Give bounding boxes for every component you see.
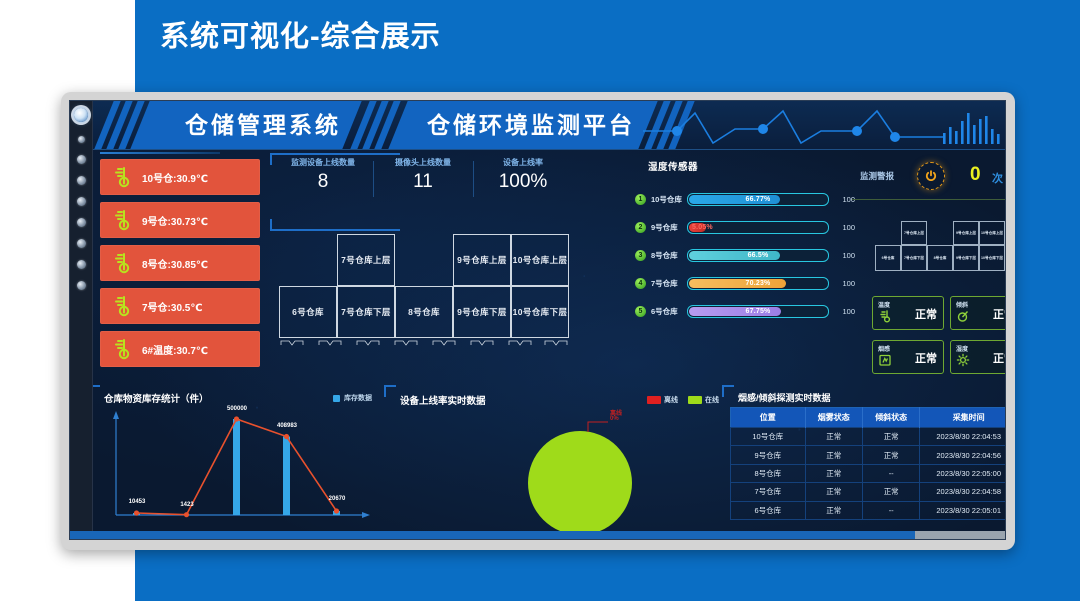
legend-swatch (333, 395, 340, 402)
cell-location: 8号仓库 (731, 464, 806, 482)
alarm-divider (852, 199, 1006, 200)
thermometer-icon (878, 309, 892, 323)
humidity-row[interactable]: 2 9号仓库 5.05% 100 (635, 213, 855, 241)
temperature-card-label: 7号仓:30.5℃ (142, 299, 260, 314)
warehouse-cell-8[interactable]: 8号仓库 (395, 286, 453, 338)
alarm-count: 0 (970, 164, 981, 186)
cell-tilt: 正常 (863, 446, 920, 464)
humidity-max: 100 (829, 307, 855, 316)
cell-tilt: -- (863, 464, 920, 482)
camera-icon-2[interactable] (77, 176, 86, 185)
humidity-index: 1 (635, 194, 646, 205)
mini-cell-8[interactable]: 8号仓库 (927, 245, 953, 271)
legend-item-offline: 离线 (647, 395, 678, 405)
temperature-card[interactable]: 8号仓:30.85℃ (100, 245, 260, 281)
legend-label-offline: 离线 (664, 395, 678, 405)
mini-cell-7-upper[interactable]: 7号仓库上层 (901, 221, 927, 245)
power-icon[interactable] (917, 162, 945, 190)
status-value: 正常 (915, 306, 937, 322)
humidity-row[interactable]: 1 10号仓库 66.77% 100 (635, 185, 855, 213)
pie-chart-title: 设备上线率实时数据 (400, 393, 486, 407)
inventory-data-label: 408983 (268, 423, 306, 429)
app-sidebar[interactable] (70, 101, 93, 539)
cell-time: 2023/8/30 22:04:56 (920, 446, 1006, 464)
legend-label-online: 在线 (705, 395, 719, 405)
dashboard-icon[interactable] (78, 136, 85, 143)
status-box-smoke[interactable]: 烟感 正常 (872, 340, 944, 374)
inventory-data-label: 20670 (318, 496, 356, 502)
cell-location: 7号仓库 (731, 483, 806, 501)
header-title-left: 仓储管理系统 (168, 101, 358, 149)
humidity-index: 5 (635, 306, 646, 317)
mini-cell-9-lower[interactable]: 9号仓库下层 (953, 245, 979, 271)
camera-icon-7[interactable] (77, 281, 86, 290)
humidity-percent: 66.5% (688, 250, 828, 261)
cell-smoke: 正常 (805, 483, 862, 501)
humidity-name: 9号仓库 (651, 222, 687, 233)
humidity-progress-track: 67.75% (687, 305, 829, 318)
status-box-humidity[interactable]: 湿度 正常 (950, 340, 1006, 374)
app-header: 仓储管理系统 仓储环境监测平台 (92, 101, 1005, 150)
kpi-label: 监测设备上线数量 (273, 157, 373, 168)
humidity-index: 3 (635, 250, 646, 261)
cell-tilt: 正常 (863, 483, 920, 501)
thermometer-icon (100, 251, 142, 275)
slide-title: 系统可视化-综合展示 (160, 14, 660, 60)
humidity-name: 10号仓库 (651, 194, 687, 205)
warehouse-cell-7-lower[interactable]: 7号仓库下层 (337, 286, 395, 338)
humidity-percent: 70.23% (688, 278, 828, 289)
status-value: 正常 (993, 350, 1006, 366)
humidity-index: 4 (635, 278, 646, 289)
callout-leader-line (586, 419, 610, 433)
dashboard-screen: 仓储管理系统 仓储环境监测平台 (69, 100, 1006, 540)
kpi-label: 设备上线率 (473, 157, 573, 168)
mini-cell-10-lower[interactable]: 10号仓库下层 (979, 245, 1005, 271)
cell-time: 2023/8/30 22:04:53 (920, 428, 1006, 446)
status-box-temperature[interactable]: 温度 正常 (872, 296, 944, 330)
legend-swatch-online (688, 396, 702, 404)
kpi-online-rate: 设备上线率 100% (473, 157, 573, 193)
humidity-row[interactable]: 5 6号仓库 67.75% 100 (635, 297, 855, 325)
humidity-max: 100 (829, 279, 855, 288)
column-header-tilt: 倾斜状态 (863, 408, 920, 428)
map-corner-decoration (270, 219, 400, 231)
cell-smoke: 正常 (805, 464, 862, 482)
taskbar-tray[interactable] (915, 531, 1005, 539)
temperature-card[interactable]: 9号仓:30.73℃ (100, 202, 260, 238)
camera-icon-6[interactable] (77, 260, 86, 269)
mini-cell-7-lower[interactable]: 7号仓库下层 (901, 245, 927, 271)
status-label: 倾斜 (956, 300, 968, 309)
thermometer-icon (100, 208, 142, 232)
cell-location: 6号仓库 (731, 501, 806, 519)
table-header-row: 位置 烟雾状态 倾斜状态 采集时间 (731, 408, 1007, 428)
humidity-index: 2 (635, 222, 646, 233)
thermometer-icon (100, 337, 142, 361)
humidity-percent: 5.05% (688, 222, 828, 233)
table-row[interactable]: 9号仓库 正常 正常 2023/8/30 22:04:56 (731, 446, 1007, 464)
smoke-icon (878, 353, 892, 367)
alarm-section: 监测警报 0 次 (860, 159, 1006, 193)
kpi-row: 监测设备上线数量 8 摄像头上线数量 11 设备上线率 100% (273, 157, 573, 203)
humidity-progress-track: 5.05% (687, 221, 829, 234)
cell-smoke: 正常 (805, 428, 862, 446)
legend-item-online: 在线 (688, 395, 719, 405)
camera-icon-1[interactable] (77, 155, 86, 164)
cell-location: 10号仓库 (731, 428, 806, 446)
table-row[interactable]: 8号仓库 正常 -- 2023/8/30 22:05:00 (731, 464, 1007, 482)
column-header-location: 位置 (731, 408, 806, 428)
smoke-tilt-table-panel: 烟感/倾斜探测实时数据 位置 烟雾状态 倾斜状态 采集时间 10号仓库 正常 正… (730, 389, 1006, 540)
warehouse-cell-10-lower[interactable]: 10号仓库下层 (511, 286, 569, 338)
callout-value: 0% (610, 416, 619, 422)
alarm-unit: 次 (992, 170, 1003, 186)
table-row[interactable]: 6号仓库 正常 -- 2023/8/30 22:05:01 (731, 501, 1007, 519)
humidity-progress-track: 66.5% (687, 249, 829, 262)
column-header-time: 采集时间 (920, 408, 1006, 428)
humidity-icon (956, 353, 970, 367)
monitor-frame: 仓储管理系统 仓储环境监测平台 (61, 92, 1015, 550)
kpi-value: 8 (273, 171, 373, 193)
cell-location: 9号仓库 (731, 446, 806, 464)
status-value: 正常 (915, 350, 937, 366)
inventory-data-label: 10453 (118, 499, 156, 505)
status-label: 温度 (878, 300, 890, 309)
camera-icon-4[interactable] (77, 218, 86, 227)
thermometer-icon (100, 165, 142, 189)
pie-slice-online[interactable] (528, 431, 632, 535)
warehouse-layout-map: 7号仓库上层 9号仓库上层 10号仓库上层 6号仓库 7号仓库下层 8号仓库 9… (325, 234, 615, 339)
kpi-cameras-online: 摄像头上线数量 11 (373, 157, 473, 193)
kpi-value: 100% (473, 171, 573, 193)
inventory-chart-legend: 库存数据 (333, 393, 372, 403)
humidity-progress-track: 70.23% (687, 277, 829, 290)
warehouse-foot-decoration (279, 339, 569, 346)
camera-icon-5[interactable] (77, 239, 86, 248)
temperature-card-label: 8号仓:30.85℃ (142, 256, 260, 271)
inventory-chart-plot (92, 403, 382, 531)
inventory-chart: 仓库物资库存统计（件） 库存数据 10453 142 (92, 389, 382, 540)
pie-callout-offline: 离线 0% (586, 409, 642, 433)
mini-warehouse-map: 7号仓库上层 9号仓库上层 10号仓库上层 6号仓库 7号仓库下层 8号仓库 9… (875, 221, 1005, 273)
warehouse-cell-9-lower[interactable]: 9号仓库下层 (453, 286, 511, 338)
inventory-data-label: 1423 (168, 502, 206, 508)
status-label: 湿度 (956, 344, 968, 353)
alarm-label: 监测警报 (860, 170, 894, 182)
temperature-card[interactable]: 7号仓:30.5℃ (100, 288, 260, 324)
cell-time: 2023/8/30 22:05:00 (920, 464, 1006, 482)
status-value: 正常 (993, 306, 1006, 322)
kpi-monitor-devices: 监测设备上线数量 8 (273, 157, 373, 193)
legend-label: 库存数据 (344, 393, 372, 403)
os-taskbar[interactable] (70, 531, 1005, 539)
temperature-card-label: 6#温度:30.7℃ (142, 342, 260, 357)
humidity-percent: 66.77% (688, 194, 828, 205)
camera-icon-3[interactable] (77, 197, 86, 206)
humidity-max: 100 (829, 251, 855, 260)
humidity-sensor-list: 1 10号仓库 66.77% 100 2 9号仓库 5.05% 100 3 8号… (635, 157, 855, 357)
humidity-name: 8号仓库 (651, 250, 687, 261)
temperature-card[interactable]: 6#温度:30.7℃ (100, 331, 260, 367)
table-title: 烟感/倾斜探测实时数据 (738, 391, 831, 404)
warehouse-cell-6[interactable]: 6号仓库 (279, 286, 337, 338)
inventory-data-label: 500000 (218, 406, 256, 412)
humidity-name: 7号仓库 (651, 278, 687, 289)
pie-chart-legend: 离线 在线 (647, 395, 719, 405)
cell-smoke: 正常 (805, 501, 862, 519)
sensor-status-grid: 温度 正常 倾斜 正常 烟感 正常 湿度 正常 (872, 296, 1006, 374)
humidity-progress-track: 66.77% (687, 193, 829, 206)
mini-cell-6[interactable]: 6号仓库 (875, 245, 901, 271)
tilt-icon (956, 309, 970, 323)
warehouse-cell-7-upper[interactable]: 7号仓库上层 (337, 234, 395, 286)
legend-swatch-offline (647, 396, 661, 404)
header-waveform-decoration (643, 105, 1003, 147)
status-box-tilt[interactable]: 倾斜 正常 (950, 296, 1006, 330)
humidity-row[interactable]: 3 8号仓库 66.5% 100 (635, 241, 855, 269)
warehouse-cell-9-upper[interactable]: 9号仓库上层 (453, 234, 511, 286)
temperature-card-list: 10号仓:30.9℃ 9号仓:30.73℃ 8号仓:30.85℃ 7号仓:30.… (100, 159, 260, 374)
table-row[interactable]: 7号仓库 正常 正常 2023/8/30 22:04:58 (731, 483, 1007, 501)
thermometer-icon (100, 294, 142, 318)
header-title-right: 仓储环境监测平台 (422, 101, 640, 149)
kpi-label: 摄像头上线数量 (373, 157, 473, 168)
temperature-card-label: 10号仓:30.9℃ (142, 170, 260, 185)
cell-smoke: 正常 (805, 446, 862, 464)
temp-section-divider (100, 152, 220, 154)
cell-time: 2023/8/30 22:05:01 (920, 501, 1006, 519)
humidity-row[interactable]: 4 7号仓库 70.23% 100 (635, 269, 855, 297)
mini-cell-9-upper[interactable]: 9号仓库上层 (953, 221, 979, 245)
cell-tilt: 正常 (863, 428, 920, 446)
temperature-card-label: 9号仓:30.73℃ (142, 213, 260, 228)
humidity-name: 6号仓库 (651, 306, 687, 317)
home-icon[interactable] (74, 108, 88, 122)
status-label: 烟感 (878, 344, 890, 353)
temperature-card[interactable]: 10号仓:30.9℃ (100, 159, 260, 195)
table-row[interactable]: 10号仓库 正常 正常 2023/8/30 22:04:53 (731, 428, 1007, 446)
cell-tilt: -- (863, 501, 920, 519)
device-online-pie-panel: 设备上线率实时数据 离线 在线 离线 0% (388, 389, 723, 540)
warehouse-cell-10-upper[interactable]: 10号仓库上层 (511, 234, 569, 286)
mini-cell-10-upper[interactable]: 10号仓库上层 (979, 221, 1005, 245)
cell-time: 2023/8/30 22:04:58 (920, 483, 1006, 501)
humidity-percent: 67.75% (688, 306, 828, 317)
smoke-tilt-data-table: 位置 烟雾状态 倾斜状态 采集时间 10号仓库 正常 正常 2023/8/30 … (730, 407, 1006, 520)
humidity-max: 100 (829, 223, 855, 232)
column-header-smoke: 烟雾状态 (805, 408, 862, 428)
kpi-value: 11 (373, 171, 473, 193)
